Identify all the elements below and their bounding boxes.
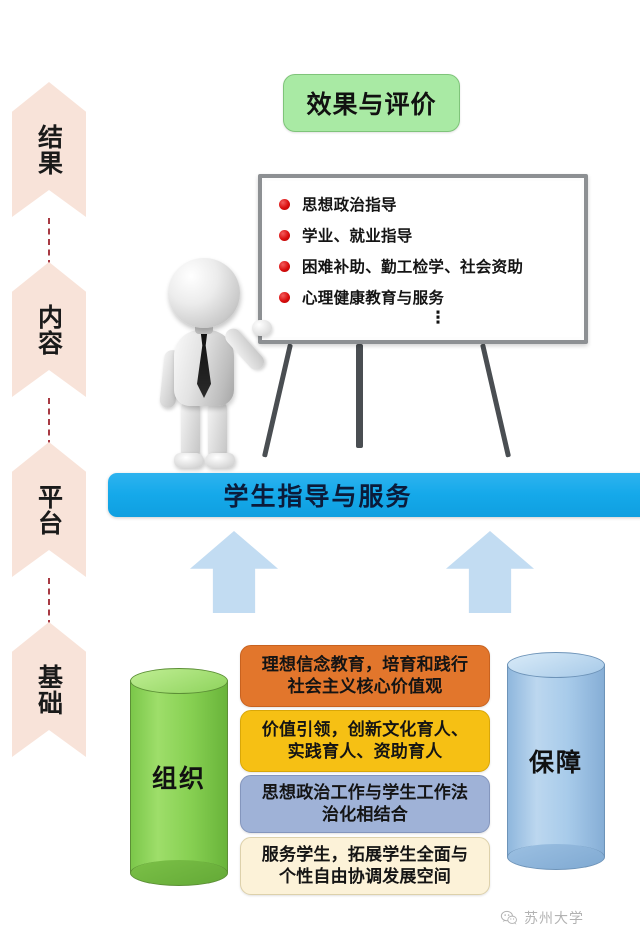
ladder-step-label: 内容 <box>36 304 63 356</box>
up-arrow-icon-right <box>446 531 534 613</box>
figure-leg-right <box>208 400 227 460</box>
list-item: 心理健康教育与服务 <box>279 286 571 308</box>
figure-foot-right <box>205 453 235 468</box>
measure-line-1: 思想政治工作与学生工作法 <box>262 782 468 804</box>
list-item: 困难补助、勤工检学、社会资助 <box>279 255 571 277</box>
measure-line-1: 服务学生，拓展学生全面与 <box>262 844 468 866</box>
ladder-step-result: 结果 <box>12 82 86 217</box>
evaluation-title: 效果与评价 <box>306 85 436 121</box>
cylinder-bottom <box>130 860 228 886</box>
measure-text: 思想政治工作与学生工作法 治化相结合 <box>262 782 468 827</box>
measure-line-2: 社会主义核心价值观 <box>262 676 468 698</box>
pillar-organization: 组织 <box>130 668 228 886</box>
watermark-text: 苏州大学 <box>524 908 584 928</box>
cylinder-top <box>130 668 228 694</box>
ladder-divider-2 <box>48 398 50 446</box>
presenter-figure-icon <box>148 258 268 473</box>
ladder-step-label: 结果 <box>36 124 63 176</box>
bullet-dot-icon <box>279 199 290 210</box>
bullet-label: 心理健康教育与服务 <box>302 286 444 308</box>
pillar-label: 组织 <box>130 759 228 795</box>
pillar-label: 保障 <box>507 743 605 779</box>
measure-box-service: 服务学生，拓展学生全面与 个性自由协调发展空间 <box>240 837 490 895</box>
figure-hand <box>252 320 272 336</box>
bullet-dot-icon <box>279 292 290 303</box>
diagram-canvas: 结果 内容 平台 基础 效果与评价 思想政治指导 学业、就业指导 <box>0 0 640 945</box>
ladder-step-foundation: 基础 <box>12 622 86 757</box>
bullet-dot-icon <box>279 261 290 272</box>
measure-line-2: 个性自由协调发展空间 <box>262 866 468 888</box>
list-item: 思想政治指导 <box>279 193 571 215</box>
whiteboard-frame: 思想政治指导 学业、就业指导 困难补助、勤工检学、社会资助 心理健康教育与服务 … <box>258 174 588 344</box>
watermark: 苏州大学 <box>500 908 584 928</box>
ladder-divider-3 <box>48 578 50 626</box>
easel-leg-center <box>356 344 363 448</box>
continuation-ellipsis: ⋮ <box>305 315 571 322</box>
ladder-step-platform: 平台 <box>12 442 86 577</box>
easel-leg-right <box>480 343 511 457</box>
ladder-divider-1 <box>48 218 50 266</box>
figure-foot-left <box>174 453 204 468</box>
evaluation-box: 效果与评价 <box>283 74 460 132</box>
ladder-step-label: 平台 <box>36 484 63 536</box>
whiteboard: 思想政治指导 学业、就业指导 困难补助、勤工检学、社会资助 心理健康教育与服务 … <box>258 174 588 344</box>
bullet-label: 学业、就业指导 <box>302 224 413 246</box>
bullet-label: 思想政治指导 <box>302 193 397 215</box>
measure-text: 价值引领，创新文化育人、 实践育人、资助育人 <box>262 719 468 764</box>
measure-line-2: 实践育人、资助育人 <box>262 741 468 763</box>
ladder-step-label: 基础 <box>36 664 63 716</box>
whiteboard-surface: 思想政治指导 学业、就业指导 困难补助、勤工检学、社会资助 心理健康教育与服务 … <box>265 181 581 337</box>
measure-box-values: 价值引领，创新文化育人、 实践育人、资助育人 <box>240 710 490 772</box>
measure-text: 服务学生，拓展学生全面与 个性自由协调发展空间 <box>262 844 468 889</box>
measure-box-ideals: 理想信念教育，培育和践行 社会主义核心价值观 <box>240 645 490 707</box>
figure-leg-left <box>181 400 200 460</box>
bullet-dot-icon <box>279 230 290 241</box>
figure-head <box>168 258 240 328</box>
measure-line-1: 理想信念教育，培育和践行 <box>262 654 468 676</box>
bullet-label: 困难补助、勤工检学、社会资助 <box>302 255 523 277</box>
measure-text: 理想信念教育，培育和践行 社会主义核心价值观 <box>262 654 468 699</box>
banner-title: 学生指导与服务 <box>223 477 412 513</box>
ladder-step-content: 内容 <box>12 262 86 397</box>
up-arrow-icon-left <box>190 531 278 613</box>
student-guidance-banner: 学生指导与服务 <box>108 473 640 517</box>
measure-box-rule-of-law: 思想政治工作与学生工作法 治化相结合 <box>240 775 490 833</box>
cylinder-bottom <box>507 844 605 870</box>
list-item: 学业、就业指导 <box>279 224 571 246</box>
cylinder-top <box>507 652 605 678</box>
measure-line-1: 价值引领，创新文化育人、 <box>262 719 468 741</box>
pillar-guarantee: 保障 <box>507 652 605 870</box>
measure-line-2: 治化相结合 <box>262 804 468 826</box>
wechat-icon <box>500 909 518 927</box>
